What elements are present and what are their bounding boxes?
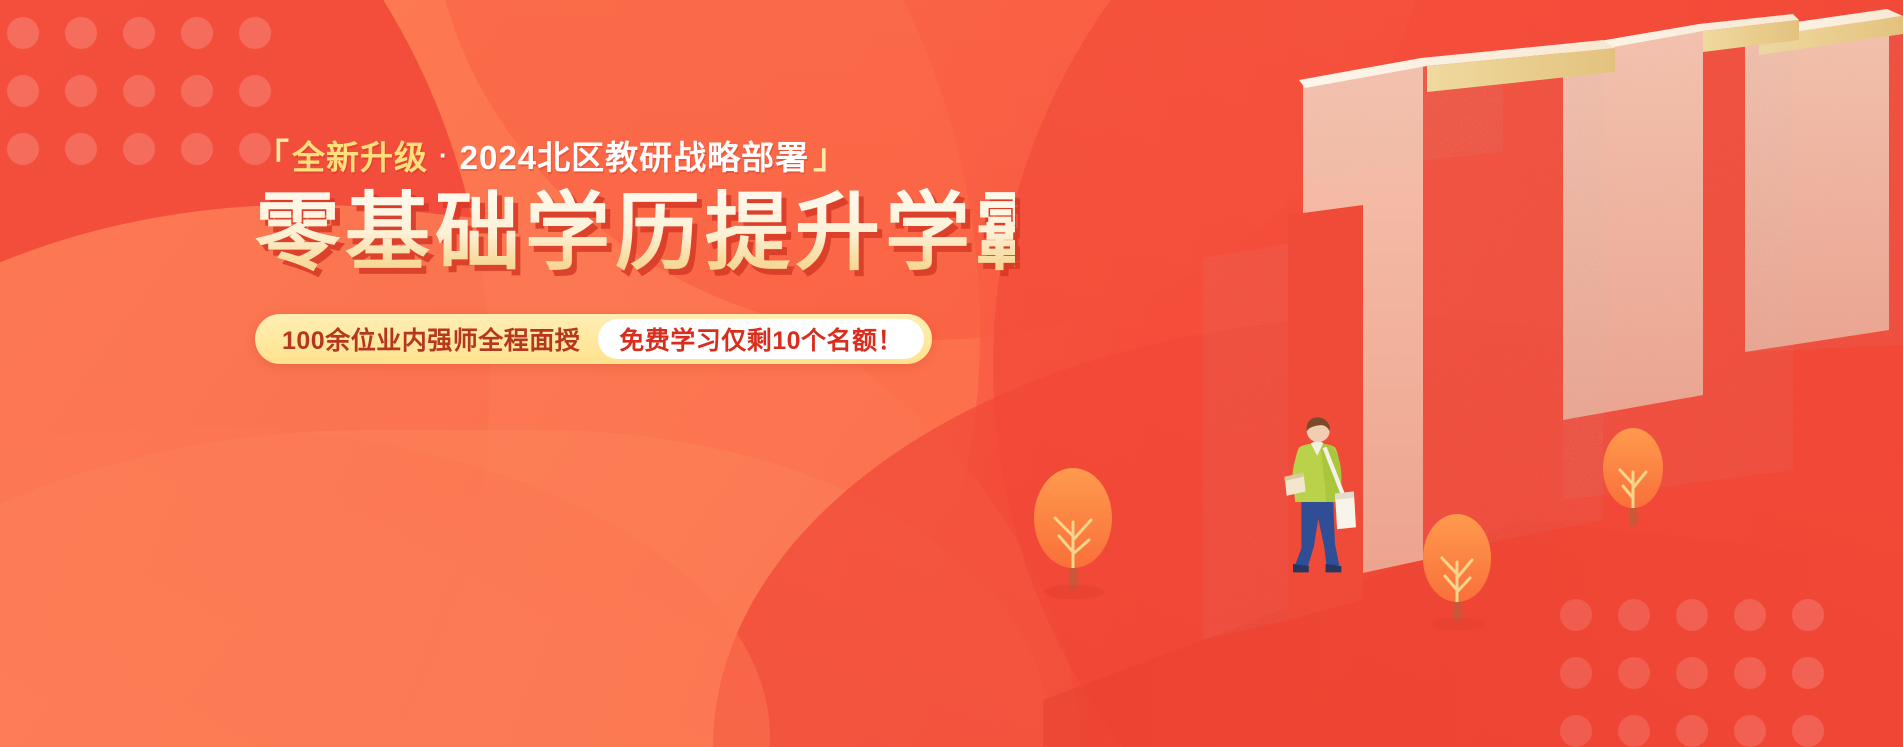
dot-grid-bottom-right-icon — [1547, 586, 1847, 747]
promo-badge[interactable]: 100余位业内强师全程面授 免费学习仅剩10个名额！ — [255, 314, 932, 364]
promo-banner: 「 全新升级 · 2024北区教研战略部署 」 零基础学历提升学霸班 100余位… — [0, 0, 1903, 747]
banner-text-block: 「 全新升级 · 2024北区教研战略部署 」 零基础学历提升学霸班 100余位… — [255, 140, 1015, 364]
bracket-close-icon: 」 — [813, 140, 848, 174]
promo-badge-left-text: 100余位业内强师全程面授 — [282, 321, 598, 357]
promo-badge-right-pill[interactable]: 免费学习仅剩10个名额！ — [598, 319, 924, 359]
banner-subtitle: 「 全新升级 · 2024北区教研战略部署 」 — [255, 140, 1015, 174]
dot-grid-top-left-icon — [0, 4, 294, 179]
subtitle-highlight: 全新升级 — [292, 141, 428, 174]
banner-title: 零基础学历提升学霸班 — [255, 188, 1015, 280]
subtitle-separator-dot-icon: · — [439, 142, 449, 168]
subtitle-main-text: 2024北区教研战略部署 — [460, 141, 809, 174]
bracket-open-icon: 「 — [255, 140, 290, 174]
